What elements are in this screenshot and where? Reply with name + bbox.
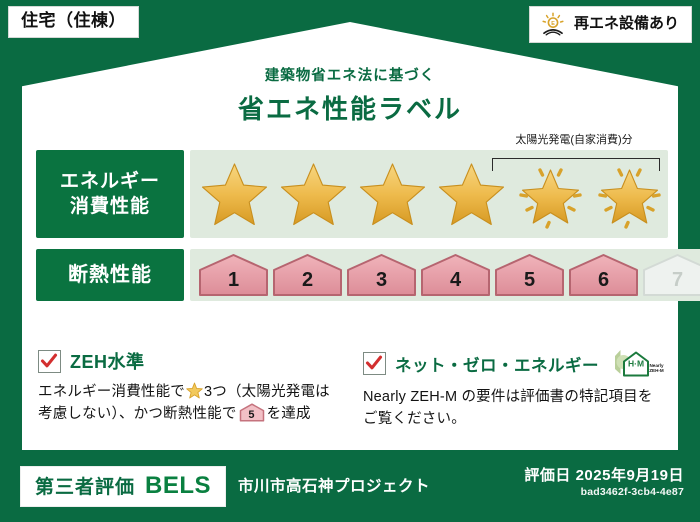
- insulation-grade-inline-value: 5: [239, 410, 265, 421]
- nearly-zeh-m-logo: H·M Nearly ZEH-M: [612, 348, 664, 379]
- renewable-badge-label: 再エネ設備あり: [574, 16, 679, 33]
- bels-jp-label: 第三者評価: [35, 472, 135, 499]
- zeh-standard-block: ZEH水準 エネルギー消費性能で3つ（太陽光発電は考慮しない）、かつ断熱性能で5…: [38, 348, 341, 431]
- insulation-row-label: 断熱性能: [36, 249, 184, 301]
- insulation-badge: 2: [272, 253, 343, 297]
- zeh-text-part3: を達成: [267, 406, 311, 422]
- energy-label-line1: エネルギー: [60, 169, 160, 194]
- energy-star-track: 太陽光発電(自家消費)分: [190, 150, 668, 238]
- net-zero-title: ネット・ゼロ・エネルギー: [395, 352, 599, 376]
- zeh-title: ZEH水準: [70, 348, 145, 374]
- insulation-badge-value: 3: [376, 270, 387, 295]
- insulation-badge-value: 4: [450, 270, 461, 295]
- insulation-badge: 6: [568, 253, 639, 297]
- solar-note: 太陽光発電(自家消費)分: [486, 130, 662, 148]
- label-heading: 建築物省エネ法に基づく 省エネ性能ラベル: [0, 64, 700, 126]
- bels-en-label: BELS: [145, 472, 211, 500]
- label-subtitle: 建築物省エネ法に基づく: [0, 64, 700, 85]
- insulation-performance-row: 断熱性能 1 2 3: [36, 249, 666, 301]
- insulation-badge-value: 1: [228, 270, 239, 295]
- svg-text:E: E: [551, 21, 555, 27]
- star-filled: [196, 158, 273, 230]
- star-filled: [275, 158, 352, 230]
- star-icon: [186, 382, 203, 399]
- insulation-badge: 3: [346, 253, 417, 297]
- net-zero-heading: ネット・ゼロ・エネルギー H·M Nearly ZEH-M: [363, 348, 666, 379]
- category-tag: 住宅（住棟）: [8, 6, 139, 38]
- insulation-badges: 1 2 3 4 5: [190, 253, 700, 297]
- energy-performance-label: 住宅（住棟） E 再エネ設備あり 建築物省エネ法に基づく 省エネ性能ラベル: [0, 0, 700, 522]
- svg-text:H·M: H·M: [628, 359, 644, 369]
- label-footer: 第三者評価 BELS 市川市高石神プロジェクト 評価日 2025年9月19日 b…: [0, 452, 700, 522]
- evaluation-date: 評価日 2025年9月19日: [524, 466, 684, 486]
- star-filled: [354, 158, 431, 230]
- evaluation-meta: 評価日 2025年9月19日 bad3462f-3cb4-4e87: [524, 466, 684, 498]
- net-zero-checkbox: [363, 352, 386, 375]
- insulation-badge-value: 2: [302, 270, 313, 295]
- insulation-badge: 5: [494, 253, 565, 297]
- info-columns: ZEH水準 エネルギー消費性能で3つ（太陽光発電は考慮しない）、かつ断熱性能で5…: [38, 348, 666, 431]
- renewable-equipment-badge: E 再エネ設備あり: [529, 6, 692, 43]
- evaluation-id: bad3462f-3cb4-4e87: [524, 486, 684, 498]
- insulation-badge-value: 7: [672, 270, 683, 295]
- rating-rows: エネルギー 消費性能 太陽光発電(自家消費)分: [36, 150, 666, 312]
- svg-text:ZEH-M: ZEH-M: [649, 368, 664, 373]
- insulation-badge-track: 1 2 3 4 5: [190, 249, 700, 301]
- insulation-badge-value: 6: [598, 270, 609, 295]
- label-title: 省エネ性能ラベル: [0, 89, 700, 126]
- zeh-checkbox: [38, 350, 61, 373]
- energy-performance-row: エネルギー 消費性能 太陽光発電(自家消費)分: [36, 150, 666, 238]
- solar-sun-icon: E: [540, 12, 566, 36]
- insulation-grade-inline-badge: 5: [239, 403, 265, 422]
- net-zero-energy-block: ネット・ゼロ・エネルギー H·M Nearly ZEH-M Nearly ZEH…: [363, 348, 666, 431]
- energy-row-label: エネルギー 消費性能: [36, 150, 184, 238]
- solar-bracket: [492, 158, 660, 171]
- net-zero-description: Nearly ZEH-M の要件は評価書の特記項目をご覧ください。: [363, 386, 666, 431]
- zeh-text-part1: エネルギー消費性能で: [38, 384, 185, 400]
- energy-label-line2: 消費性能: [70, 194, 150, 219]
- insulation-badge-inactive: 7: [642, 253, 700, 297]
- zeh-heading: ZEH水準: [38, 348, 341, 374]
- insulation-badge: 1: [198, 253, 269, 297]
- project-name: 市川市高石神プロジェクト: [238, 474, 430, 496]
- insulation-badge: 4: [420, 253, 491, 297]
- bels-certification-box: 第三者評価 BELS: [20, 466, 226, 507]
- insulation-badge-value: 5: [524, 270, 535, 295]
- solar-note-label: 太陽光発電(自家消費)分: [513, 134, 634, 146]
- zeh-description: エネルギー消費性能で3つ（太陽光発電は考慮しない）、かつ断熱性能で5を達成: [38, 381, 341, 426]
